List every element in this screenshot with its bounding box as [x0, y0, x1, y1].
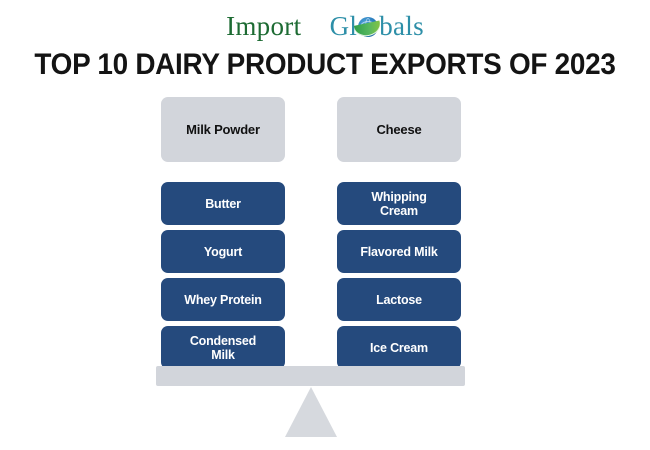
balance-scale-graphic: Milk Powder Butter Yogurt Whey Protein C… [0, 0, 650, 450]
scale-pan-left: Milk Powder Butter Yogurt Whey Protein C… [161, 97, 285, 374]
product-item-ice-cream: Ice Cream [337, 326, 461, 369]
product-label-line1: Flavored Milk [360, 245, 437, 259]
product-label-line1: Whey Protein [184, 293, 261, 307]
product-label-line1: Yogurt [204, 245, 242, 259]
product-label-line1: Ice Cream [370, 341, 428, 355]
product-item-whey-protein: Whey Protein [161, 278, 285, 321]
product-label-line1: Whipping [371, 190, 426, 204]
category-header-milk-powder: Milk Powder [161, 97, 285, 162]
product-item-butter: Butter [161, 182, 285, 225]
product-label-line2: Milk [190, 348, 256, 362]
product-item-yogurt: Yogurt [161, 230, 285, 273]
product-item-condensed-milk: Condensed Milk [161, 326, 285, 369]
product-label-line1: Butter [205, 197, 241, 211]
product-item-lactose: Lactose [337, 278, 461, 321]
product-item-flavored-milk: Flavored Milk [337, 230, 461, 273]
product-label-line2: Cream [371, 204, 426, 218]
product-label-line1: Lactose [376, 293, 422, 307]
scale-beam [156, 366, 465, 386]
category-header-cheese: Cheese [337, 97, 461, 162]
scale-pan-right: Cheese Whipping Cream Flavored Milk Lact… [337, 97, 461, 374]
product-item-whipping-cream: Whipping Cream [337, 182, 461, 225]
product-label-line1: Condensed [190, 334, 256, 348]
scale-fulcrum-triangle [285, 387, 337, 437]
